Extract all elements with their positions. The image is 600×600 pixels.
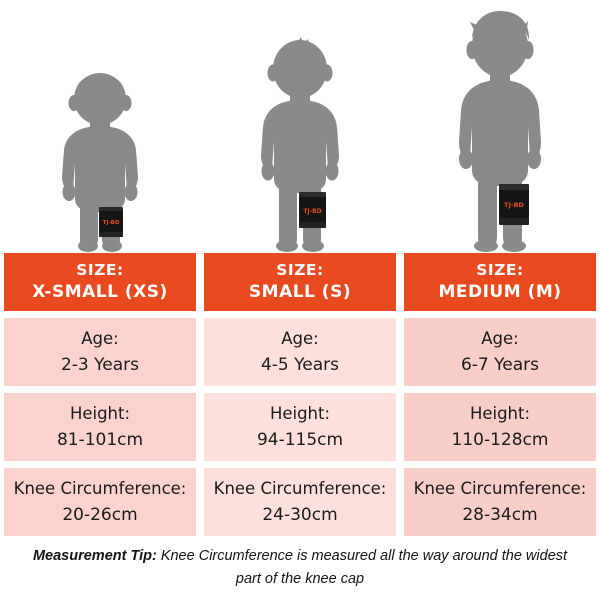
table-row-height: Height: 81-101cm Height: 94-115cm Height… [0,393,600,461]
size-header-s: SIZE: SMALL (S) [204,253,396,311]
size-header-label: SIZE: [276,260,323,280]
cell-value: 20-26cm [62,502,137,528]
table-header-row: SIZE: X-SMALL (XS) SIZE: SMALL (S) SIZE:… [0,253,600,311]
table-row-age: Age: 2-3 Years Age: 4-5 Years Age: 6-7 Y… [0,318,600,386]
figure-m: TJ-BD [400,0,600,252]
cell-age-s: Age: 4-5 Years [204,318,396,386]
cell-knee-m: Knee Circumference: 28-34cm [404,468,596,536]
measurement-tip: Measurement Tip: Knee Circumference is m… [0,545,600,591]
cell-value: 110-128cm [452,427,549,453]
size-chart-page: TJ-BD [0,0,600,600]
cell-value: 94-115cm [257,427,343,453]
child-silhouette-icon: TJ-BD [235,37,365,252]
figure-xs: TJ-BD [0,0,200,252]
toddler-silhouette-icon: TJ-BD [40,72,160,252]
svg-text:TJ-BD: TJ-BD [303,208,321,215]
knee-brace-icon: TJ-BD [299,192,326,228]
cell-value: 24-30cm [262,502,337,528]
svg-text:TJ-BD: TJ-BD [103,220,120,226]
size-header-xs: SIZE: X-SMALL (XS) [4,253,196,311]
cell-label: Height: [70,401,130,427]
figure-s: TJ-BD [200,0,400,252]
size-header-m: SIZE: MEDIUM (M) [404,253,596,311]
cell-label: Age: [281,326,318,352]
cell-value: 81-101cm [57,427,143,453]
cell-value: 4-5 Years [261,352,339,378]
cell-knee-s: Knee Circumference: 24-30cm [204,468,396,536]
size-table: SIZE: X-SMALL (XS) SIZE: SMALL (S) SIZE:… [0,253,600,543]
cell-height-m: Height: 110-128cm [404,393,596,461]
cell-label: Age: [81,326,118,352]
size-header-label: SIZE: [476,260,523,280]
cell-age-m: Age: 6-7 Years [404,318,596,386]
cell-value: 6-7 Years [461,352,539,378]
size-header-label: SIZE: [76,260,123,280]
cell-label: Knee Circumference: [214,476,387,502]
cell-knee-xs: Knee Circumference: 20-26cm [4,468,196,536]
size-header-value: SMALL (S) [249,280,351,304]
knee-brace-icon: TJ-BD [99,207,123,237]
cell-height-xs: Height: 81-101cm [4,393,196,461]
cell-value: 28-34cm [462,502,537,528]
cell-label: Knee Circumference: [414,476,587,502]
measurement-tip-label: Measurement Tip: [33,548,157,564]
measurement-tip-text: Knee Circumference is measured all the w… [157,548,567,587]
size-header-value: X-SMALL (XS) [32,280,168,304]
figure-illustrations: TJ-BD [0,0,600,252]
cell-label: Height: [270,401,330,427]
cell-height-s: Height: 94-115cm [204,393,396,461]
table-row-knee-circumference: Knee Circumference: 20-26cm Knee Circumf… [0,468,600,536]
child-silhouette-icon: TJ-BD [430,8,570,252]
cell-label: Knee Circumference: [14,476,187,502]
svg-text:TJ-BD: TJ-BD [504,201,525,209]
cell-label: Age: [481,326,518,352]
cell-label: Height: [470,401,530,427]
knee-brace-icon: TJ-BD [499,184,529,225]
size-header-value: MEDIUM (M) [438,280,561,304]
cell-value: 2-3 Years [61,352,139,378]
cell-age-xs: Age: 2-3 Years [4,318,196,386]
